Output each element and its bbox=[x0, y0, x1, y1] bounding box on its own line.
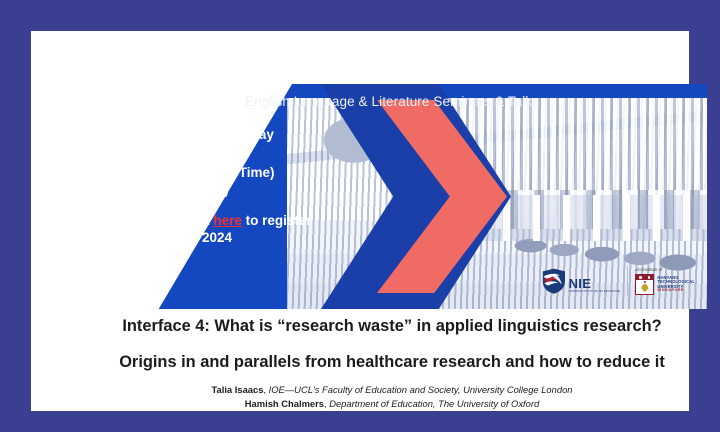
presenters-block: Talia Isaacs, IOE—UCL's Faculty of Educa… bbox=[77, 383, 707, 411]
presenter-affiliation: Department of Education, The University … bbox=[329, 398, 539, 409]
presenter-row: Talia Isaacs, IOE—UCL's Faculty of Educa… bbox=[77, 383, 707, 397]
detail-row-registration: zoom Please click here to register by 22… bbox=[87, 208, 387, 251]
nie-wordmark: NIE bbox=[569, 277, 621, 290]
detail-text-date: 23 July 2024, Tuesday bbox=[133, 122, 274, 143]
detail-row-time: 4PM (Singapore Time) 9AM (UK Time) bbox=[87, 160, 387, 198]
nie-emblem-icon bbox=[541, 267, 567, 295]
talk-title-block: Interface 4: What is “research waste” in… bbox=[77, 317, 707, 373]
register-prefix: Please click bbox=[133, 213, 213, 228]
clock-icon bbox=[87, 160, 133, 188]
nie-logo: NIE NATIONAL INSTITUTE OF EDUCATION bbox=[541, 267, 621, 295]
zoom-logo: zoom bbox=[87, 208, 133, 251]
detail-row-date: 23 July 2024, Tuesday bbox=[87, 122, 387, 150]
register-suffix: to register bbox=[242, 213, 312, 228]
talk-title-line-2: Origins in and parallels from healthcare… bbox=[77, 353, 707, 372]
ntu-line-4: SINGAPORE bbox=[657, 289, 695, 293]
detail-text-time: 4PM (Singapore Time) 9AM (UK Time) bbox=[133, 160, 275, 198]
event-details-list: 23 July 2024, Tuesday 4PM (Singapore Tim… bbox=[87, 122, 387, 261]
poster-card: English Language & Literature Seminars &… bbox=[31, 31, 689, 411]
poster-canvas: English Language & Literature Seminars &… bbox=[0, 0, 720, 432]
time-uk: 9AM (UK Time) bbox=[133, 181, 275, 198]
zoom-wordmark: zoom bbox=[98, 241, 122, 251]
zoom-video-icon bbox=[95, 210, 125, 240]
presenter-name: Hamish Chalmers bbox=[245, 398, 324, 409]
time-singapore: 4PM (Singapore Time) bbox=[133, 165, 275, 180]
ntu-crest-icon bbox=[635, 274, 654, 295]
event-date: 23 July 2024, Tuesday bbox=[133, 127, 274, 142]
presenter-name: Talia Isaacs bbox=[211, 384, 263, 395]
logo-divider bbox=[627, 266, 628, 296]
event-banner: English Language & Literature Seminars &… bbox=[77, 84, 707, 309]
calendar-icon bbox=[87, 122, 133, 150]
register-deadline: by 22 July 2024 bbox=[133, 229, 312, 246]
ntu-affiliation-label: An Institute of bbox=[635, 267, 695, 272]
presenter-row: Hamish Chalmers, Department of Education… bbox=[77, 397, 707, 411]
banner-heading: English Language & Literature Seminars &… bbox=[77, 94, 707, 109]
presenter-affiliation: IOE—UCL's Faculty of Education and Socie… bbox=[269, 384, 573, 395]
detail-text-registration: Please click here to register by 22 July… bbox=[133, 208, 312, 246]
nie-caption: NATIONAL INSTITUTE OF EDUCATION bbox=[569, 291, 621, 294]
ntu-logo: An Institute of NANYANG TECHNOLOGICAL UN… bbox=[635, 267, 695, 295]
ntu-wordmark: NANYANG TECHNOLOGICAL UNIVERSITY SINGAPO… bbox=[657, 276, 695, 294]
talk-title-line-1: Interface 4: What is “research waste” in… bbox=[77, 317, 707, 336]
institution-logos: NIE NATIONAL INSTITUTE OF EDUCATION An I… bbox=[541, 259, 695, 303]
register-here-link[interactable]: here bbox=[213, 213, 242, 228]
